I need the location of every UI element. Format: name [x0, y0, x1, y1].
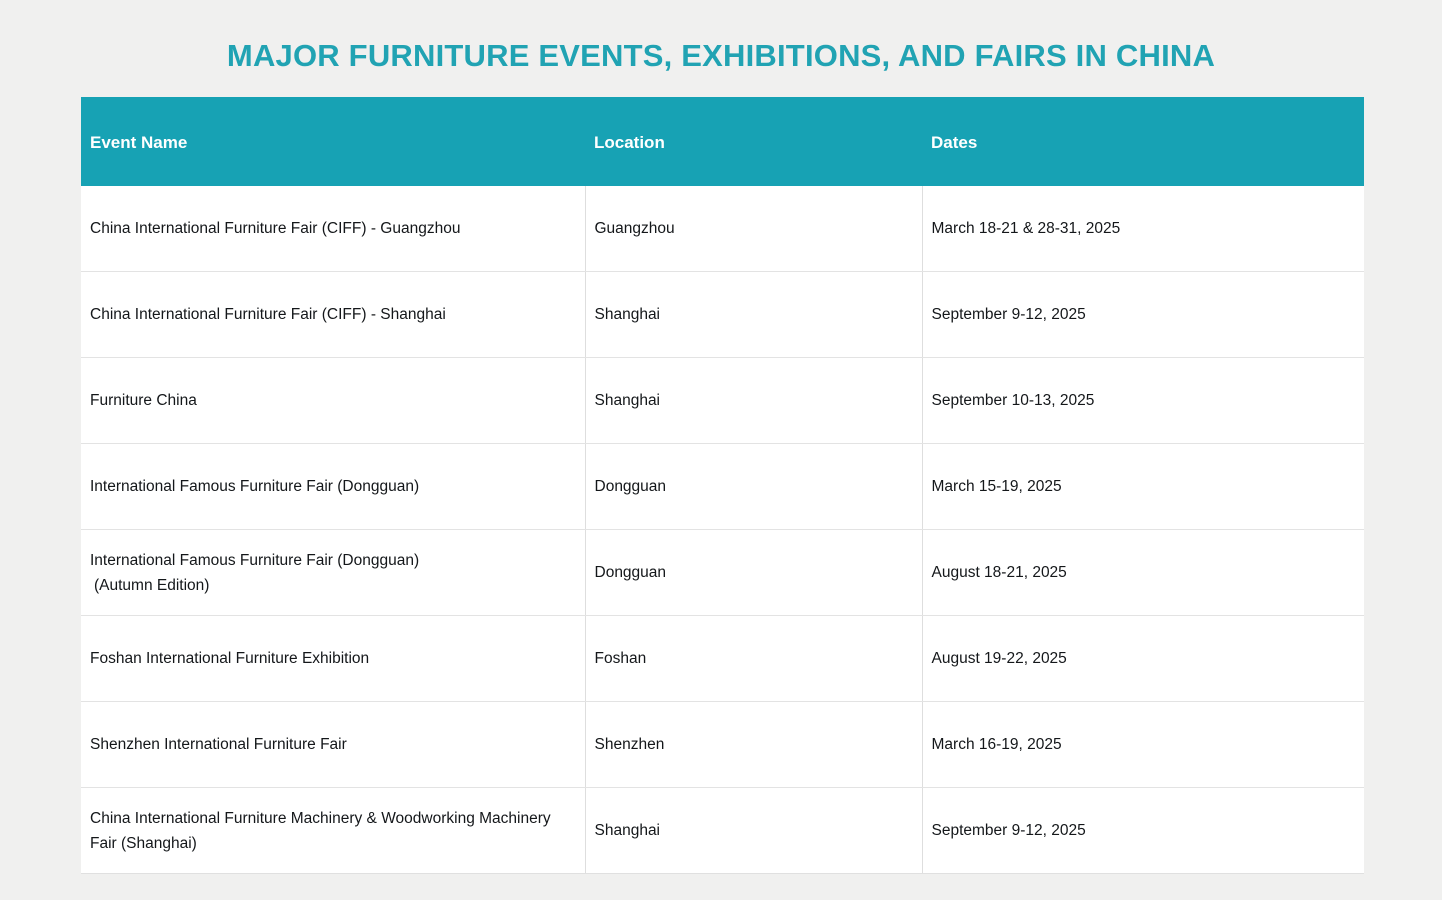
column-header-event-name[interactable]: Event Name [81, 97, 585, 186]
cell-location: Foshan [585, 616, 922, 702]
cell-dates: March 18-21 & 28-31, 2025 [922, 186, 1364, 272]
cell-dates: March 16-19, 2025 [922, 702, 1364, 788]
table-row: Shenzhen International Furniture Fair Sh… [81, 702, 1364, 788]
column-header-dates-label: Dates [931, 133, 1364, 153]
event-name-text: China International Furniture Fair (CIFF… [90, 306, 446, 323]
cell-location: Shanghai [585, 788, 922, 874]
table-row: China International Furniture Machinery … [81, 788, 1364, 874]
table-row: Foshan International Furniture Exhibitio… [81, 616, 1364, 702]
cell-location: Shanghai [585, 358, 922, 444]
cell-event-name: Foshan International Furniture Exhibitio… [81, 616, 585, 702]
column-header-dates[interactable]: Dates [922, 97, 1364, 186]
cell-dates: August 19-22, 2025 [922, 616, 1364, 702]
page-title: Major Furniture Events, Exhibitions, and… [0, 0, 1442, 75]
event-name-text: China International Furniture Machinery … [90, 810, 551, 852]
cell-location: Guangzhou [585, 186, 922, 272]
cell-event-name: China International Furniture Machinery … [81, 788, 585, 874]
cell-event-name: International Famous Furniture Fair (Don… [81, 444, 585, 530]
cell-dates: September 10-13, 2025 [922, 358, 1364, 444]
cell-dates: September 9-12, 2025 [922, 272, 1364, 358]
cell-dates: March 15-19, 2025 [922, 444, 1364, 530]
table-row: China International Furniture Fair (CIFF… [81, 186, 1364, 272]
events-table-container: Event Name Location Dates China Internat… [81, 97, 1364, 874]
page-root: Major Furniture Events, Exhibitions, and… [0, 0, 1442, 900]
events-table: Event Name Location Dates China Internat… [81, 97, 1364, 874]
column-header-event-name-label: Event Name [90, 133, 585, 153]
cell-dates: August 18-21, 2025 [922, 530, 1364, 616]
event-name-text: Shenzhen International Furniture Fair [90, 736, 347, 753]
event-name-text: China International Furniture Fair (CIFF… [90, 220, 460, 237]
column-header-location[interactable]: Location [585, 97, 922, 186]
table-body: China International Furniture Fair (CIFF… [81, 186, 1364, 874]
event-name-text: International Famous Furniture Fair (Don… [90, 478, 419, 495]
cell-event-name: International Famous Furniture Fair (Don… [81, 530, 585, 616]
event-name-text-secondary: (Autumn Edition) [90, 573, 573, 598]
table-row: International Famous Furniture Fair (Don… [81, 444, 1364, 530]
cell-dates: September 9-12, 2025 [922, 788, 1364, 874]
column-header-location-label: Location [594, 133, 922, 153]
cell-event-name: Furniture China [81, 358, 585, 444]
table-header-row: Event Name Location Dates [81, 97, 1364, 186]
event-name-text: International Famous Furniture Fair (Don… [90, 552, 419, 569]
table-row: Furniture China Shanghai September 10-13… [81, 358, 1364, 444]
table-header: Event Name Location Dates [81, 97, 1364, 186]
cell-location: Shenzhen [585, 702, 922, 788]
cell-event-name: China International Furniture Fair (CIFF… [81, 272, 585, 358]
table-row: International Famous Furniture Fair (Don… [81, 530, 1364, 616]
cell-event-name: China International Furniture Fair (CIFF… [81, 186, 585, 272]
cell-location: Dongguan [585, 444, 922, 530]
cell-location: Shanghai [585, 272, 922, 358]
event-name-text: Furniture China [90, 392, 197, 409]
table-row: China International Furniture Fair (CIFF… [81, 272, 1364, 358]
cell-location: Dongguan [585, 530, 922, 616]
event-name-text: Foshan International Furniture Exhibitio… [90, 650, 369, 667]
cell-event-name: Shenzhen International Furniture Fair [81, 702, 585, 788]
